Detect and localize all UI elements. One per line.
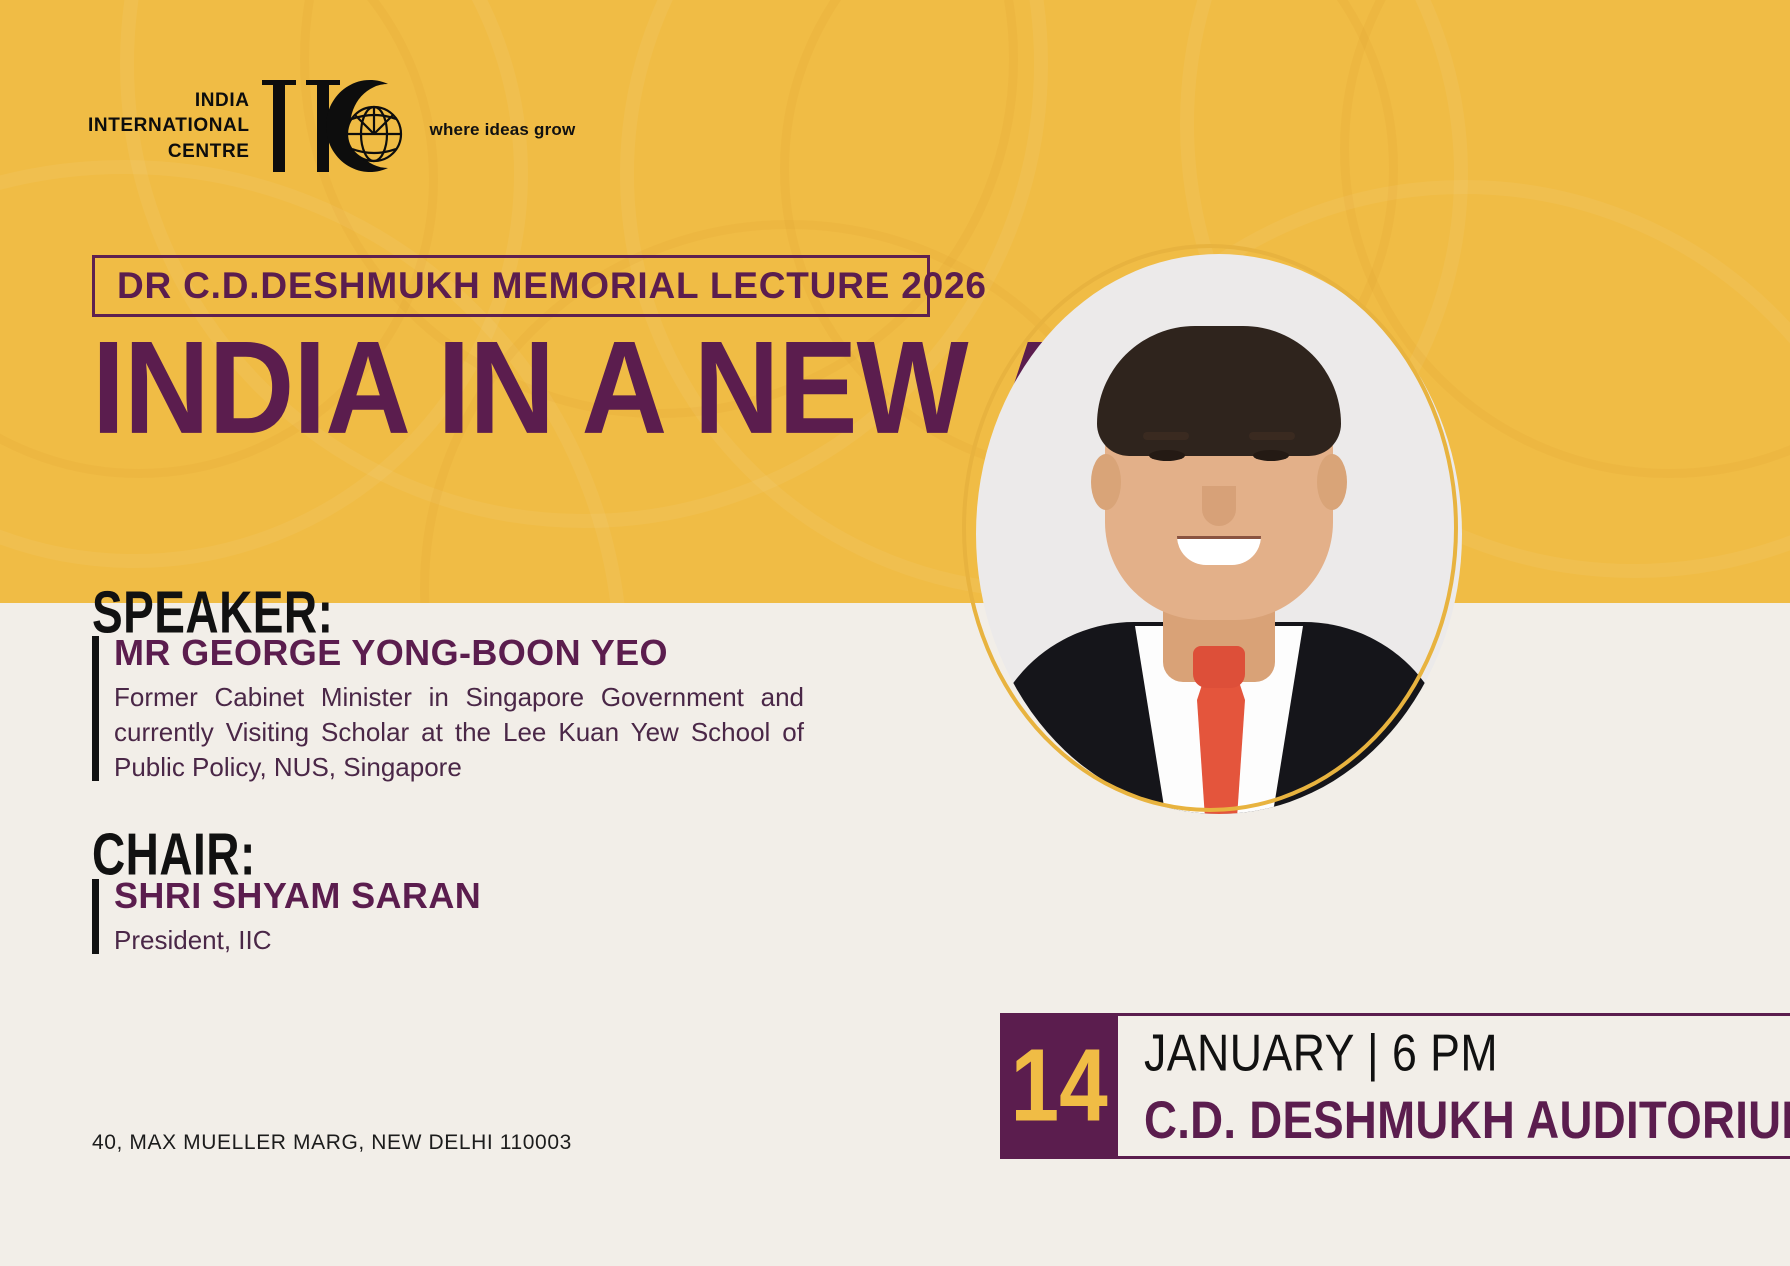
speaker-portrait	[962, 244, 1460, 814]
iic-monogram	[256, 78, 416, 174]
iic-logo-words: INDIA INTERNATIONAL CENTRE	[88, 88, 256, 164]
portrait-eye-right	[1253, 450, 1289, 461]
iic-logo-line1: INDIA	[88, 88, 250, 113]
portrait-ear-right	[1317, 454, 1347, 510]
iic-tagline: where ideas grow	[430, 112, 576, 140]
event-info: JANUARY | 6 PM C.D. DESHMUKH AUDITORIUM	[1118, 1013, 1790, 1159]
globe-icon	[347, 107, 401, 161]
venue-address: 40, MAX MUELLER MARG, NEW DELHI 110003	[92, 1131, 572, 1155]
event-day: 14	[1010, 1034, 1107, 1137]
event-venue: C.D. DESHMUKH AUDITORIUM	[1144, 1089, 1790, 1151]
portrait-brow-left	[1143, 432, 1189, 440]
portrait-brow-right	[1249, 432, 1295, 440]
chair-description: President, IIC	[114, 923, 481, 958]
speaker-name: MR GEORGE YONG-BOON YEO	[114, 632, 804, 674]
speaker-description: Former Cabinet Minister in Singapore Gov…	[114, 680, 804, 785]
portrait-eye-left	[1149, 450, 1185, 461]
iic-logo-line2: INTERNATIONAL	[88, 113, 250, 138]
portrait-tie-knot	[1193, 646, 1245, 688]
event-day-badge: 14	[1000, 1013, 1118, 1159]
lecture-label: DR C.D.DESHMUKH MEMORIAL LECTURE 2026	[95, 265, 987, 307]
event-date-strip: 14 JANUARY | 6 PM C.D. DESHMUKH AUDITORI…	[1000, 1013, 1726, 1159]
portrait-disc	[976, 254, 1462, 814]
iic-monogram-svg	[256, 78, 416, 174]
event-poster: INDIA INTERNATIONAL CENTRE	[0, 0, 1790, 1266]
portrait-nose	[1202, 486, 1236, 526]
iic-logo: INDIA INTERNATIONAL CENTRE	[88, 86, 575, 166]
portrait-hair	[1097, 326, 1341, 456]
speaker-details: MR GEORGE YONG-BOON YEO Former Cabinet M…	[92, 632, 804, 785]
portrait-ear-left	[1091, 454, 1121, 510]
chair-name: SHRI SHYAM SARAN	[114, 875, 481, 917]
lecture-title-box: DR C.D.DESHMUKH MEMORIAL LECTURE 2026	[92, 255, 930, 317]
event-month-time: JANUARY | 6 PM	[1144, 1022, 1790, 1083]
iic-logo-line3: CENTRE	[88, 139, 250, 164]
chair-details: SHRI SHYAM SARAN President, IIC	[92, 875, 481, 958]
